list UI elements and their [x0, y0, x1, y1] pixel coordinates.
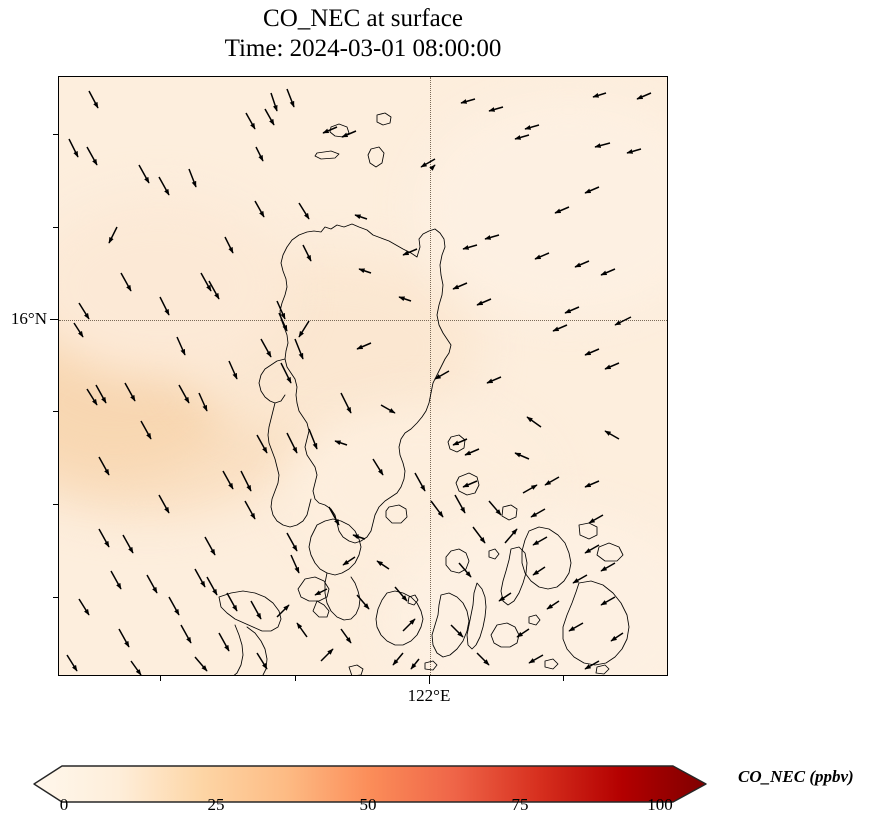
y-tick-16N	[50, 319, 58, 320]
x-tick-minor-3	[563, 676, 564, 681]
y-axis-label-16N: 16°N	[11, 309, 47, 329]
y-tick-minor-2	[53, 227, 58, 228]
page-title: CO_NEC at surface	[0, 4, 726, 34]
y-tick-minor-5	[53, 597, 58, 598]
colorbar-tick-0: 0	[60, 795, 69, 815]
title-block: CO_NEC at surface Time: 2024-03-01 08:00…	[0, 4, 726, 64]
x-tick-minor-2	[295, 676, 296, 681]
x-tick-122E	[429, 676, 430, 684]
colorbar-tick-50: 50	[360, 795, 377, 815]
colorbar-label: CO_NEC (ppbv)	[738, 767, 854, 787]
y-tick-minor-3	[53, 411, 58, 412]
colorbar-tick-75: 75	[512, 795, 529, 815]
figure: CO_NEC at surface Time: 2024-03-01 08:00…	[0, 0, 886, 836]
x-axis-label-122E: 122°E	[408, 686, 451, 706]
y-tick-minor-4	[53, 504, 58, 505]
map-axes	[58, 76, 668, 676]
colorbar-tick-100: 100	[647, 795, 673, 815]
x-tick-minor-1	[160, 676, 161, 681]
colorbar-tick-labels: 0 25 50 75 100	[0, 795, 886, 825]
y-tick-minor-1	[53, 134, 58, 135]
figure-subtitle: Time: 2024-03-01 08:00:00	[0, 34, 726, 64]
wind-vector-layer	[59, 77, 668, 676]
colorbar-tick-25: 25	[208, 795, 225, 815]
